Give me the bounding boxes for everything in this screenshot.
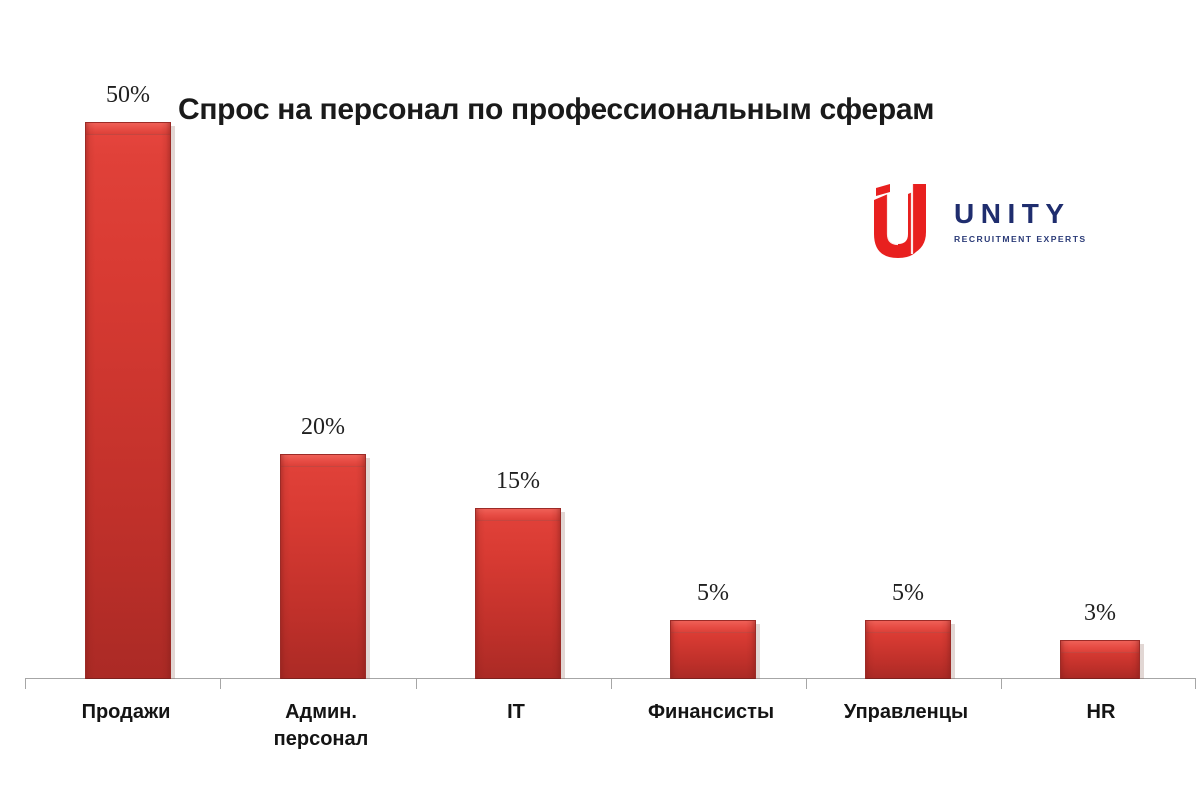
category-label-line1: Управленцы: [808, 699, 1004, 726]
category-label-line1: IT: [418, 699, 614, 726]
bar-chart-figure: 50% 20% 15% 5% 5% 3% Продажи Админ. перс…: [0, 0, 1200, 800]
data-label-prodazhi: 50%: [78, 82, 178, 109]
bar-upravlentsy[interactable]: [865, 620, 951, 679]
chart-title: Спрос на персонал по профессиональным сф…: [178, 93, 934, 127]
logo-tagline: RECRUITMENT EXPERTS: [954, 235, 1104, 244]
bar-hr[interactable]: [1060, 640, 1140, 679]
bar-prodazhi[interactable]: [85, 122, 171, 679]
category-label-finansisty: Финансисты: [613, 699, 809, 726]
category-label-upravlentsy: Управленцы: [808, 699, 1004, 726]
category-label-prodazhi: Продажи: [28, 699, 224, 726]
axis-tick: [806, 678, 807, 689]
category-label-line1: Финансисты: [613, 699, 809, 726]
axis-tick: [611, 678, 612, 689]
unity-monogram-icon: [872, 182, 938, 258]
logo-text-block: UNITY RECRUITMENT EXPERTS: [954, 200, 1104, 244]
logo-wordmark: UNITY: [954, 200, 1104, 228]
bar-finansisty[interactable]: [670, 620, 756, 679]
category-axis-line: [25, 678, 1195, 679]
axis-tick: [416, 678, 417, 689]
category-label-line1: Админ.: [223, 699, 419, 726]
data-label-hr: 3%: [1050, 600, 1150, 627]
bar-admin-personal[interactable]: [280, 454, 366, 679]
axis-tick: [25, 678, 26, 689]
axis-tick: [1001, 678, 1002, 689]
axis-tick: [1195, 678, 1196, 689]
category-label-hr: HR: [1003, 699, 1199, 726]
category-label-line2: персонал: [223, 726, 419, 753]
category-label-line1: HR: [1003, 699, 1199, 726]
bar-it[interactable]: [475, 508, 561, 679]
data-label-finansisty: 5%: [663, 580, 763, 607]
axis-tick: [220, 678, 221, 689]
category-label-it: IT: [418, 699, 614, 726]
data-label-it: 15%: [468, 468, 568, 495]
data-label-admin-personal: 20%: [273, 414, 373, 441]
data-label-upravlentsy: 5%: [858, 580, 958, 607]
category-label-admin-personal: Админ. персонал: [223, 699, 419, 753]
category-label-line1: Продажи: [28, 699, 224, 726]
brand-logo: UNITY RECRUITMENT EXPERTS: [872, 182, 1102, 260]
